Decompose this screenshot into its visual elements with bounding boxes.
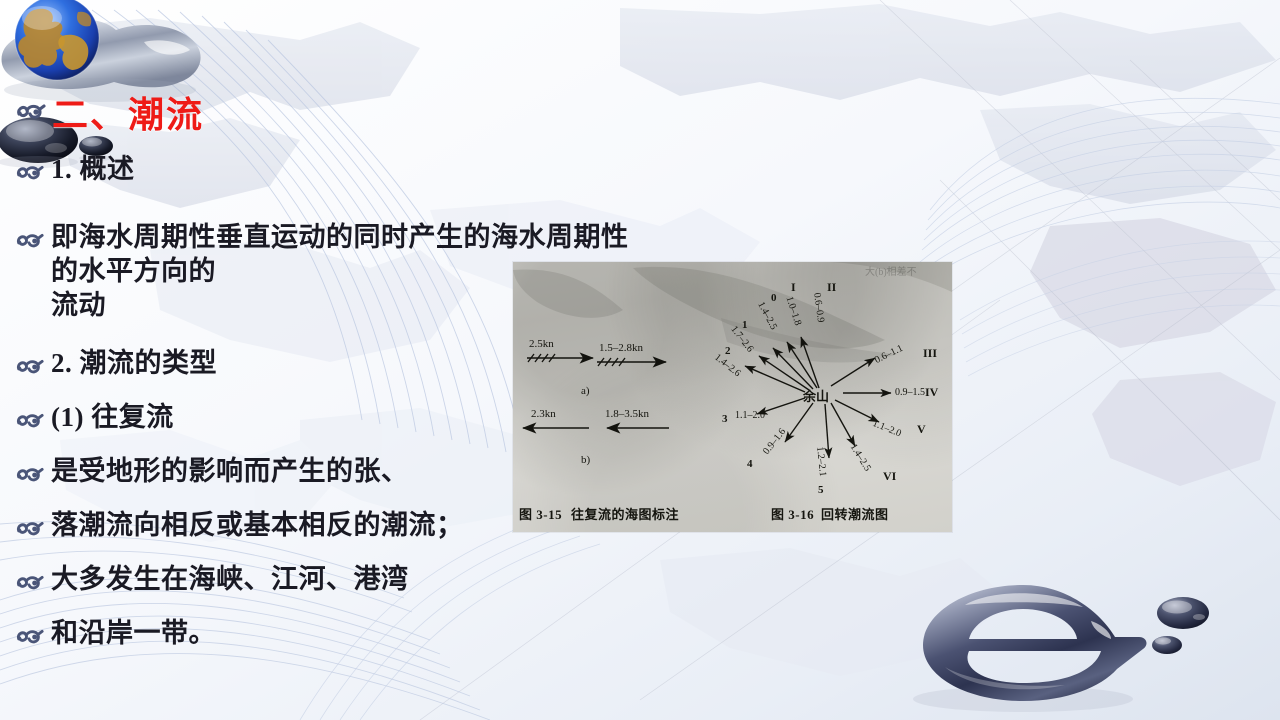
arrow-label-b1: 2.3kn xyxy=(531,408,556,420)
list-item-label: 和沿岸一带。 xyxy=(51,616,216,650)
swirl-bullet-icon xyxy=(14,460,44,490)
ray-index-3: 3 xyxy=(722,413,728,425)
tidal-current-figure: 大(b)相差不 2.5kn 1.5–2.8kn 2.3kn 1.8–3.5kn … xyxy=(513,262,952,532)
swirl-bullet-icon xyxy=(14,352,44,382)
ray-index-2: 2 xyxy=(725,345,731,357)
radial-center-label: 余山 xyxy=(803,386,829,405)
ray-roman-III: III xyxy=(923,346,937,361)
figure-right-caption-text: 回转潮流图 xyxy=(821,504,889,523)
list-item-label: (1) 往复流 xyxy=(51,400,174,434)
ray-speed-3: 1.1–2.0 xyxy=(735,410,765,421)
arrow-label-a2: 1.5–2.8kn xyxy=(599,342,643,354)
list-item-label: 是受地形的影响而产生的张、 xyxy=(51,454,409,488)
row-sublabel-a: a) xyxy=(581,385,590,397)
figure-drawing xyxy=(513,262,952,532)
ray-index-0: 0 xyxy=(771,292,777,304)
ray-speed-IV: 0.9–1.5 xyxy=(895,387,925,398)
list-item-label: 大多发生在海峡、江河、港湾 xyxy=(51,562,409,596)
droplet-icon xyxy=(1157,597,1209,629)
ray-index-1: 1 xyxy=(742,319,748,331)
swirl-bullet-icon xyxy=(14,406,44,436)
ray-roman-VI: VI xyxy=(883,469,896,484)
figure-right-caption-no: 图 3-16 xyxy=(771,504,814,523)
swirl-bullet-icon xyxy=(14,96,46,128)
list-item: 大多发生在海峡、江河、港湾 xyxy=(14,562,654,598)
arrow-label-a1: 2.5kn xyxy=(529,338,554,350)
figure-left-caption-no: 图 3-15 xyxy=(519,504,562,523)
list-item: 和沿岸一带。 xyxy=(14,616,654,652)
ray-index-4: 4 xyxy=(747,458,753,470)
slide-title-row: 二、潮流 xyxy=(14,86,204,138)
e-logo-icon xyxy=(905,575,1235,715)
ray-roman-IV: IV xyxy=(925,385,938,400)
list-item-label: 落潮流向相反或基本相反的潮流； xyxy=(51,508,464,542)
slide-canvas: 二、潮流 1. 概述 xyxy=(0,0,1280,720)
ray-roman-I: I xyxy=(791,280,796,295)
page-title: 二、潮流 xyxy=(52,86,204,138)
swirl-bullet-icon xyxy=(14,514,44,544)
figure-left-caption-text: 往复流的海图标注 xyxy=(571,504,679,523)
arrow-label-b2: 1.8–3.5kn xyxy=(605,408,649,420)
swirl-bullet-icon xyxy=(14,568,44,598)
swirl-bullet-icon xyxy=(14,622,44,652)
droplet-small-icon xyxy=(1152,636,1182,654)
row-sublabel-b: b) xyxy=(581,454,590,466)
swirl-bullet-icon xyxy=(14,226,44,256)
list-item: 1. 概述 xyxy=(14,152,654,188)
list-item-label: 2. 潮流的类型 xyxy=(51,346,217,380)
swirl-bullet-icon xyxy=(14,158,44,188)
ray-index-5: 5 xyxy=(818,484,824,496)
globe-icon xyxy=(15,0,99,80)
list-item-label: 1. 概述 xyxy=(51,152,135,186)
figure-bleed-text: 大(b)相差不 xyxy=(865,263,917,278)
ray-roman-V: V xyxy=(917,422,926,437)
ray-roman-II: II xyxy=(827,280,836,295)
